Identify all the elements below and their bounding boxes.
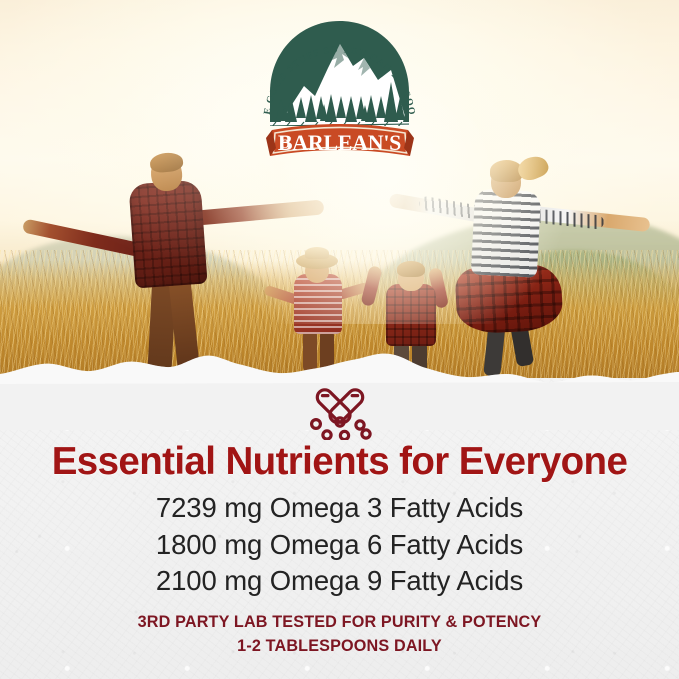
child-leg-left xyxy=(394,342,409,378)
note-lab-tested: 3RD PARTY LAB TESTED FOR PURITY & POTENC… xyxy=(0,611,679,634)
child-straw-hat-crown xyxy=(305,247,329,259)
child-hat-leg-right xyxy=(320,330,334,374)
mother-stripes xyxy=(471,188,541,277)
page-title: Essential Nutrients for Everyone xyxy=(0,442,679,482)
logo-banner: BARLEAN'S O xyxy=(266,124,414,164)
softgel-capsules-with-drops-icon xyxy=(294,378,386,436)
child-hat-stripes xyxy=(294,274,342,334)
child-hair xyxy=(397,261,425,277)
logo-wordmark: BARLEAN'S xyxy=(278,130,401,155)
nutrient-facts-list: 7239 mg Omega 3 Fatty Acids 1800 mg Omeg… xyxy=(0,490,679,599)
nutrient-fact-omega-3: 7239 mg Omega 3 Fatty Acids xyxy=(0,490,679,526)
father-plaid-pattern xyxy=(128,180,207,289)
child-leg-right xyxy=(412,342,427,378)
child-plaid-pattern xyxy=(386,284,436,346)
logo-wordmark-prefix: O xyxy=(280,136,290,151)
child-plaid-shirt xyxy=(386,284,436,346)
nutrient-fact-omega-6: 1800 mg Omega 6 Fatty Acids xyxy=(0,527,679,563)
info-content: Essential Nutrients for Everyone 7239 mg… xyxy=(0,378,679,658)
product-infographic-card: WE MAKE GOOD STUFF SO YOU CAN DO GOOD ST… xyxy=(0,0,679,679)
child-hat-leg-left xyxy=(303,330,317,372)
child-hat-striped-shirt xyxy=(294,274,342,334)
barleans-logo: WE MAKE GOOD STUFF SO YOU CAN DO GOOD ST… xyxy=(258,14,421,169)
nutrient-fact-omega-9: 2100 mg Omega 9 Fatty Acids xyxy=(0,563,679,599)
note-dosage: 1-2 TABLESPOONS DAILY xyxy=(0,635,679,658)
mother-striped-top xyxy=(471,188,541,277)
father-plaid-shirt xyxy=(128,180,207,289)
product-notes: 3RD PARTY LAB TESTED FOR PURITY & POTENC… xyxy=(0,611,679,658)
